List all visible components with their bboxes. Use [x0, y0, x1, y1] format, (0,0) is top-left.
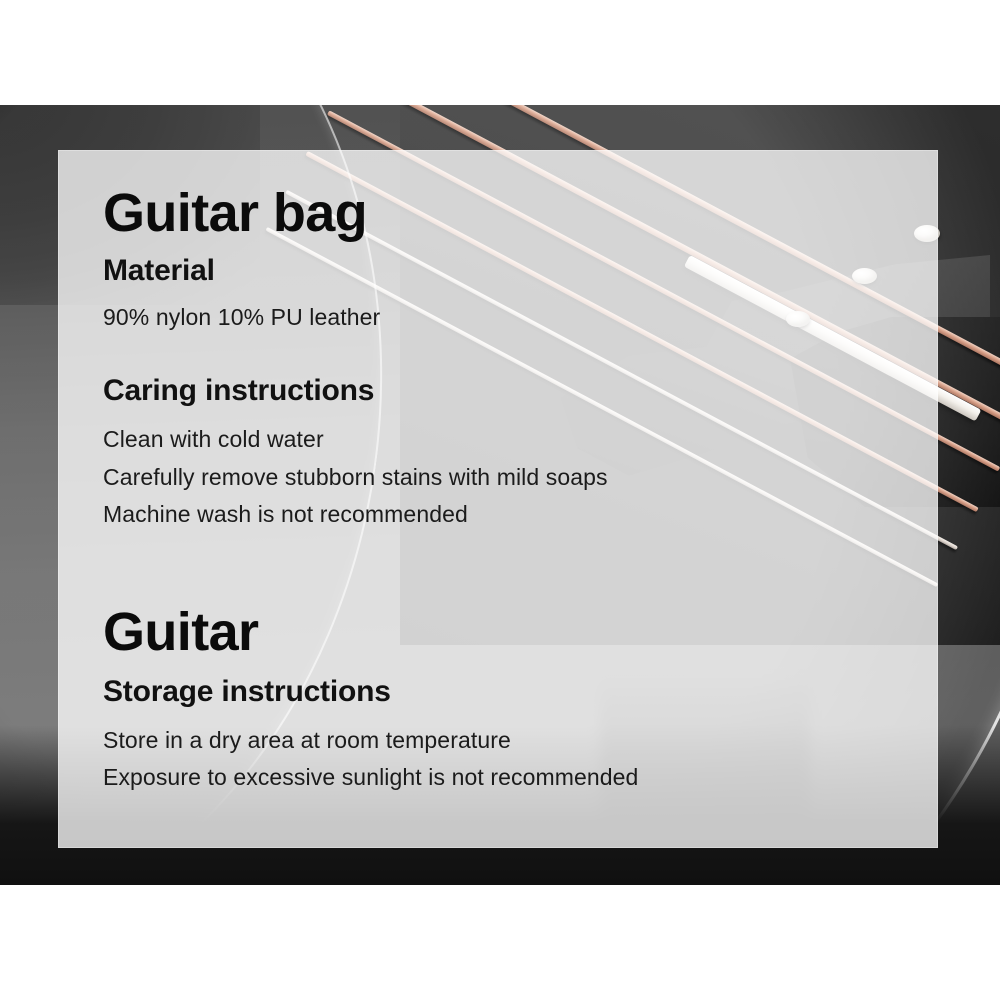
- info-text-block: Guitar bag Material 90% nylon 10% PU lea…: [103, 150, 923, 848]
- storage-line-1: Store in a dry area at room temperature: [103, 722, 923, 759]
- storage-instruction-lines: Store in a dry area at room temperature …: [103, 722, 923, 797]
- subheading-material: Material: [103, 254, 923, 287]
- product-info-graphic: Guitar bag Material 90% nylon 10% PU lea…: [0, 0, 1000, 1000]
- caring-line-3: Machine wash is not recommended: [103, 496, 923, 533]
- caring-line-2: Carefully remove stubborn stains with mi…: [103, 459, 923, 496]
- caring-line-1: Clean with cold water: [103, 421, 923, 458]
- material-line-1: 90% nylon 10% PU leather: [103, 299, 923, 336]
- storage-line-2: Exposure to excessive sunlight is not re…: [103, 759, 923, 796]
- section-title-guitar: Guitar: [103, 605, 923, 659]
- subheading-caring-instructions: Caring instructions: [103, 374, 923, 407]
- caring-instruction-lines: Clean with cold water Carefully remove s…: [103, 421, 923, 533]
- subheading-storage-instructions: Storage instructions: [103, 675, 923, 708]
- material-lines: 90% nylon 10% PU leather: [103, 299, 923, 336]
- section-title-guitar-bag: Guitar bag: [103, 186, 923, 240]
